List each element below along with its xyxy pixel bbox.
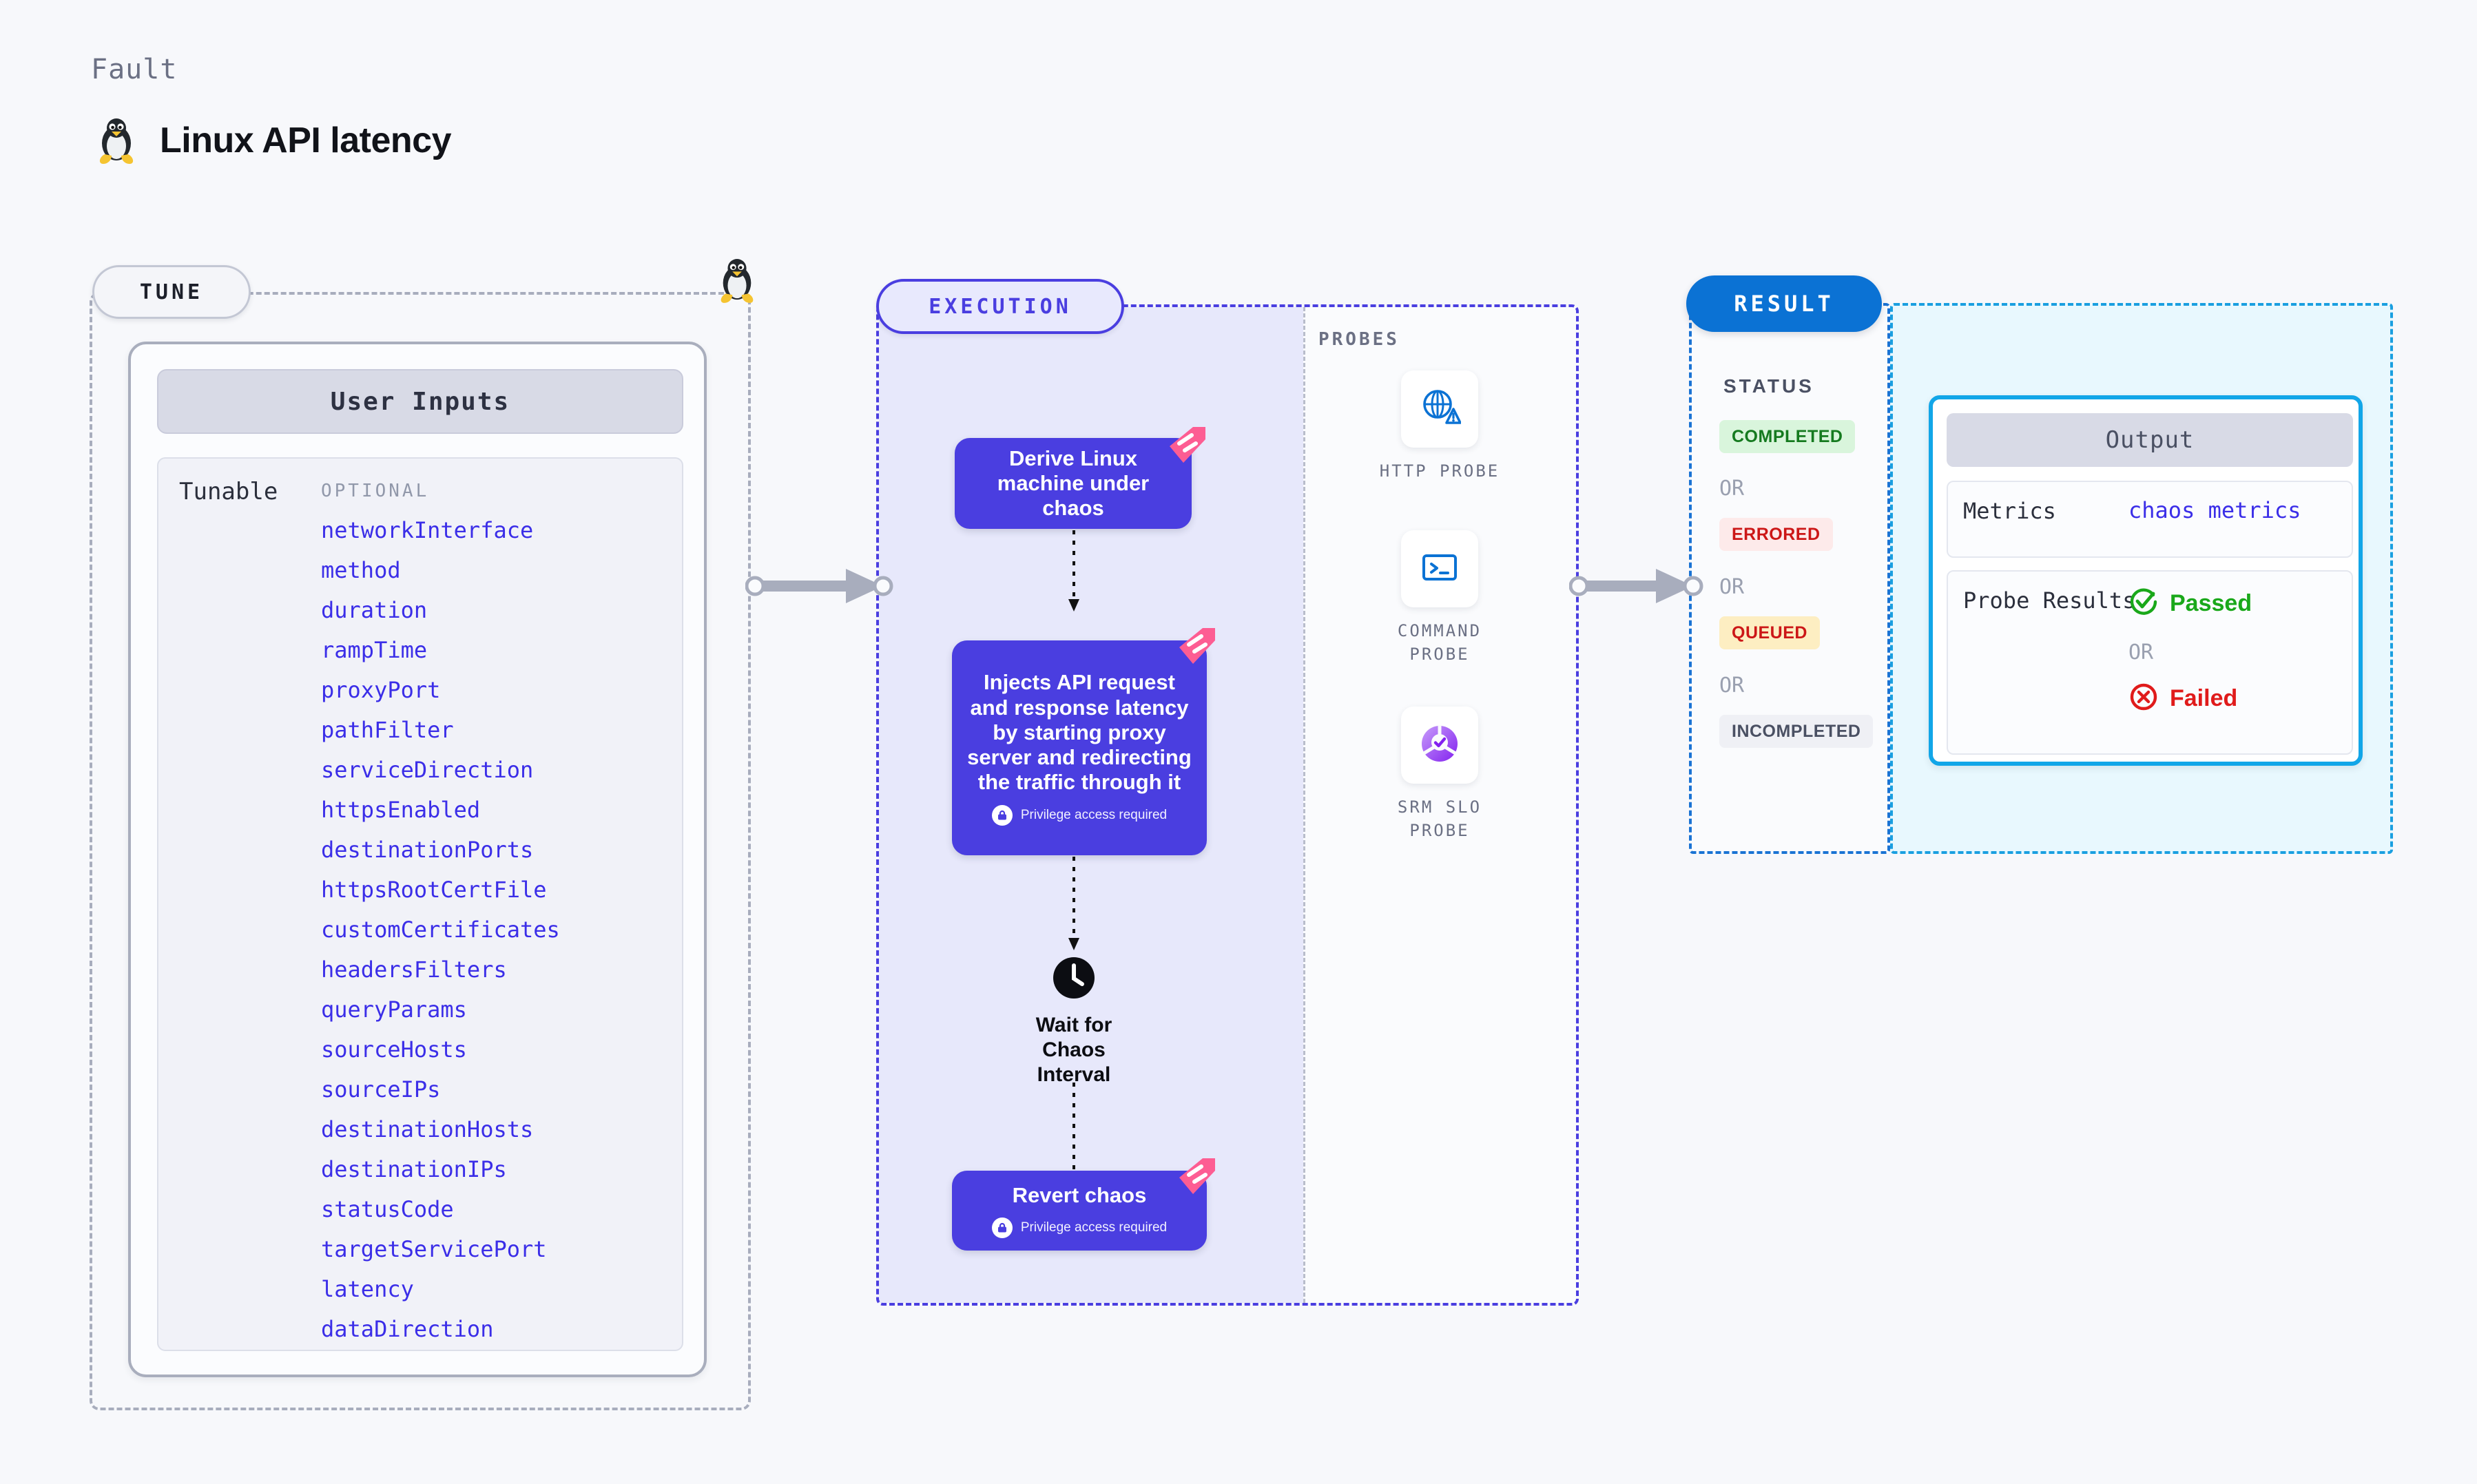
tunable-box: Tunable OPTIONAL networkInterfacemethodd… bbox=[157, 457, 683, 1351]
privilege-note: Privilege access required bbox=[992, 1217, 1167, 1238]
status-badge-label: INCOMPLETED bbox=[1732, 722, 1861, 742]
probe-http[interactable]: HTTP PROBE bbox=[1378, 370, 1502, 483]
privilege-text: Privilege access required bbox=[1021, 1220, 1167, 1235]
tunable-parameter[interactable]: method bbox=[321, 559, 560, 581]
wait-for-chaos-interval-node[interactable]: Wait for Chaos Interval bbox=[1010, 956, 1138, 1087]
tunable-parameter[interactable]: headersFilters bbox=[321, 959, 560, 981]
globe-warning-icon bbox=[1418, 386, 1461, 432]
chaos-flag-icon bbox=[1175, 624, 1219, 671]
user-inputs-card: User Inputs Tunable OPTIONAL networkInte… bbox=[128, 342, 707, 1377]
page-title: Linux API latency bbox=[160, 120, 451, 161]
slo-donut-check-icon bbox=[1418, 722, 1461, 769]
metrics-key: Metrics bbox=[1963, 497, 2056, 525]
status-badge-completed: COMPLETED bbox=[1719, 420, 1855, 453]
execution-node-inject[interactable]: Injects API request and response latency… bbox=[952, 640, 1207, 855]
probe-results-key: Probe Results bbox=[1963, 587, 2135, 614]
probe-srm-slo[interactable]: SRM SLO PROBE bbox=[1378, 707, 1502, 842]
execution-badge[interactable]: EXECUTION bbox=[876, 279, 1124, 334]
execution-node-derive[interactable]: Derive Linux machine under chaos bbox=[955, 438, 1192, 529]
output-card: Output Metrics chaos metrics Probe Resul… bbox=[1929, 395, 2363, 766]
connector-tune-to-execution bbox=[745, 563, 897, 612]
chaos-flag-icon bbox=[1175, 1154, 1219, 1202]
output-row-metrics: Metrics chaos metrics bbox=[1947, 481, 2353, 558]
execution-node-text: Injects API request and response latency… bbox=[952, 670, 1207, 795]
status-badge-label: QUEUED bbox=[1732, 623, 1807, 643]
probe-result-failed: Failed bbox=[2128, 682, 2237, 715]
diagram-canvas: Fault Linux API latency TUNE bbox=[0, 0, 2477, 1484]
tune-badge[interactable]: TUNE bbox=[92, 265, 251, 319]
tunable-parameter[interactable]: duration bbox=[321, 599, 560, 621]
execution-node-text: Revert chaos bbox=[1000, 1183, 1159, 1208]
probes-title: PROBES bbox=[1318, 329, 1400, 350]
or-label: OR bbox=[1719, 477, 1744, 501]
user-inputs-title: User Inputs bbox=[157, 369, 683, 434]
status-badge-incompleted: INCOMPLETED bbox=[1719, 715, 1873, 748]
chaos-flag-icon bbox=[1165, 423, 1210, 470]
tunable-parameter[interactable]: networkInterface bbox=[321, 519, 560, 541]
flow-arrow-1 bbox=[1065, 530, 1083, 616]
tunable-parameter[interactable]: statusCode bbox=[321, 1198, 560, 1220]
connector-execution-to-result bbox=[1569, 563, 1707, 612]
x-circle-icon bbox=[2128, 682, 2159, 715]
terminal-icon bbox=[1420, 547, 1460, 591]
status-badge-errored: ERRORED bbox=[1719, 518, 1833, 551]
fault-kicker: Fault bbox=[91, 54, 177, 85]
result-badge[interactable]: RESULT bbox=[1686, 275, 1882, 332]
tunable-parameter-list: networkInterfacemethoddurationrampTimepr… bbox=[321, 519, 560, 1358]
tunable-parameter[interactable]: sourceHosts bbox=[321, 1038, 560, 1060]
optional-label: OPTIONAL bbox=[321, 481, 429, 501]
output-card-title: Output bbox=[1947, 413, 2353, 467]
tunable-parameter[interactable]: queryParams bbox=[321, 999, 560, 1021]
flow-arrow-2 bbox=[1065, 857, 1083, 955]
or-label: OR bbox=[1719, 575, 1744, 599]
output-row-probe-results: Probe Results Passed OR bbox=[1947, 570, 2353, 755]
fault-title-row: Linux API latency bbox=[95, 116, 451, 165]
probe-label: HTTP PROBE bbox=[1380, 460, 1500, 483]
tunable-parameter[interactable]: targetServicePort bbox=[321, 1238, 560, 1260]
tunable-parameter[interactable]: destinationHosts bbox=[321, 1118, 560, 1140]
probe-label: COMMAND PROBE bbox=[1378, 620, 1502, 666]
probe-command[interactable]: COMMAND PROBE bbox=[1378, 530, 1502, 666]
tunable-parameter[interactable]: destinationIPs bbox=[321, 1158, 560, 1180]
execution-node-text: Derive Linux machine under chaos bbox=[955, 446, 1192, 521]
probe-result-passed: Passed bbox=[2128, 587, 2252, 620]
tunable-label: Tunable bbox=[179, 478, 278, 505]
check-circle-icon bbox=[2128, 587, 2159, 620]
tunable-parameter[interactable]: dataDirection bbox=[321, 1318, 560, 1340]
tunable-parameter[interactable]: pathFilter bbox=[321, 719, 560, 741]
tunable-parameter[interactable]: sourceIPs bbox=[321, 1078, 560, 1100]
tunable-parameter[interactable]: httpsEnabled bbox=[321, 799, 560, 821]
or-label: OR bbox=[1719, 673, 1744, 698]
linux-penguin-boundary-icon bbox=[716, 256, 758, 308]
passed-label: Passed bbox=[2170, 590, 2252, 617]
failed-label: Failed bbox=[2170, 685, 2237, 712]
lock-icon bbox=[992, 1217, 1013, 1238]
tunable-parameter[interactable]: customCertificates bbox=[321, 919, 560, 941]
status-badge-queued: QUEUED bbox=[1719, 616, 1820, 649]
metrics-value[interactable]: chaos metrics bbox=[2128, 497, 2301, 523]
tunable-parameter[interactable]: rampTime bbox=[321, 639, 560, 661]
privilege-note: Privilege access required bbox=[992, 805, 1167, 826]
wait-node-label: Wait for Chaos Interval bbox=[1010, 1013, 1138, 1087]
or-label: OR bbox=[2128, 640, 2153, 665]
probe-tile bbox=[1401, 530, 1478, 607]
linux-penguin-icon bbox=[95, 116, 138, 165]
privilege-text: Privilege access required bbox=[1021, 808, 1167, 823]
status-badge-label: ERRORED bbox=[1732, 525, 1821, 545]
status-title: STATUS bbox=[1723, 375, 1814, 397]
execution-node-revert[interactable]: Revert chaos Privilege access required bbox=[952, 1171, 1207, 1251]
clock-icon bbox=[1052, 956, 1096, 1003]
tunable-parameter[interactable]: serviceDirection bbox=[321, 759, 560, 781]
tunable-parameter[interactable]: proxyPort bbox=[321, 679, 560, 701]
status-badge-label: COMPLETED bbox=[1732, 427, 1843, 447]
tunable-parameter[interactable]: httpsRootCertFile bbox=[321, 879, 560, 901]
probe-label: SRM SLO PROBE bbox=[1378, 796, 1502, 842]
tunable-parameter[interactable]: latency bbox=[321, 1278, 560, 1300]
probe-tile bbox=[1401, 707, 1478, 784]
tunable-parameter[interactable]: destinationPorts bbox=[321, 839, 560, 861]
lock-icon bbox=[992, 805, 1013, 826]
probe-tile bbox=[1401, 370, 1478, 448]
